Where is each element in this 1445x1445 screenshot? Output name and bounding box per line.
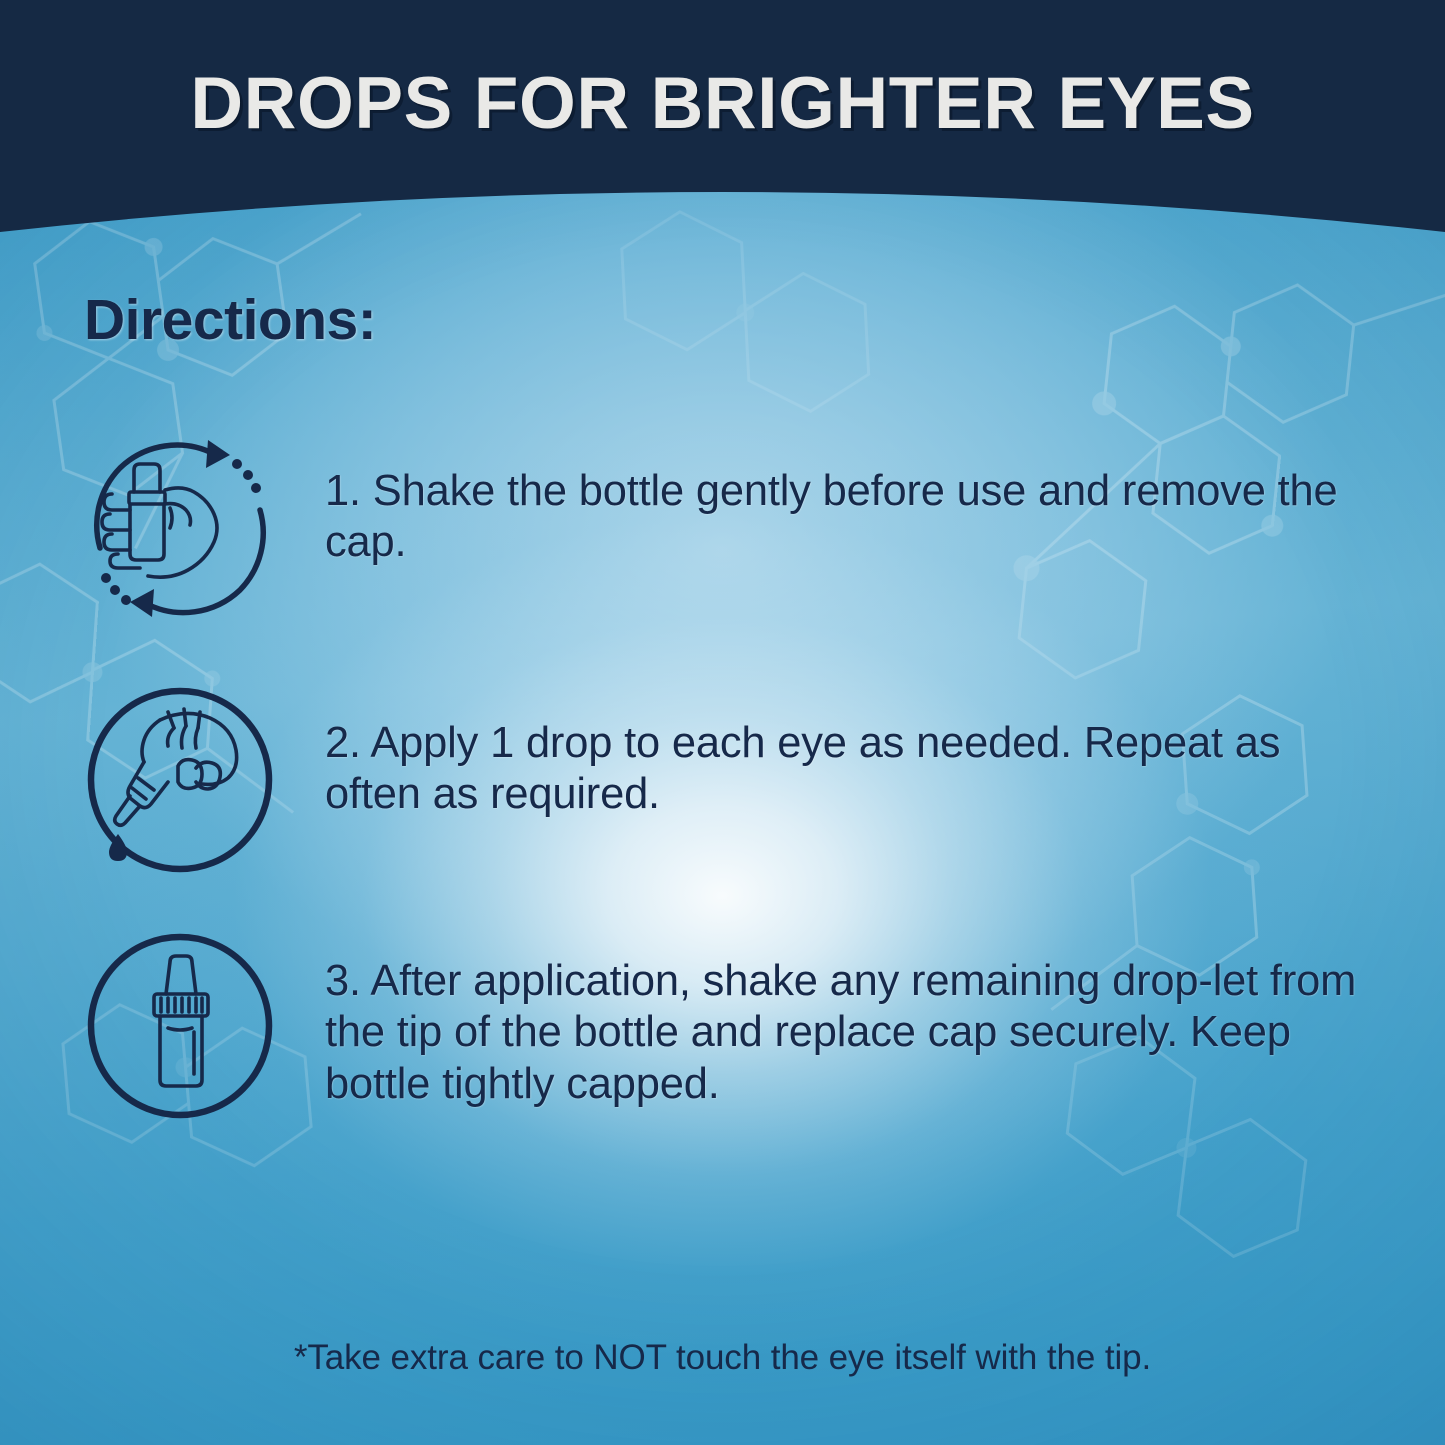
step-text: 1. Shake the bottle gently before use an… xyxy=(325,466,1370,569)
step-text: 3. After application, shake any remainin… xyxy=(325,956,1370,1110)
capped-bottle-icon xyxy=(82,928,279,1125)
footnote-warning: *Take extra care to NOT touch the eye it… xyxy=(0,1338,1445,1378)
squeeze-drop-icon xyxy=(82,682,279,879)
page-title: DROPS FOR BRIGHTER EYES xyxy=(0,62,1445,145)
product-instruction-panel: DROPS FOR BRIGHTER EYES Directions: xyxy=(0,0,1445,1445)
step-text: 2. Apply 1 drop to each eye as needed. R… xyxy=(325,718,1370,821)
directions-heading: Directions: xyxy=(84,287,376,353)
shake-bottle-icon xyxy=(82,430,279,627)
